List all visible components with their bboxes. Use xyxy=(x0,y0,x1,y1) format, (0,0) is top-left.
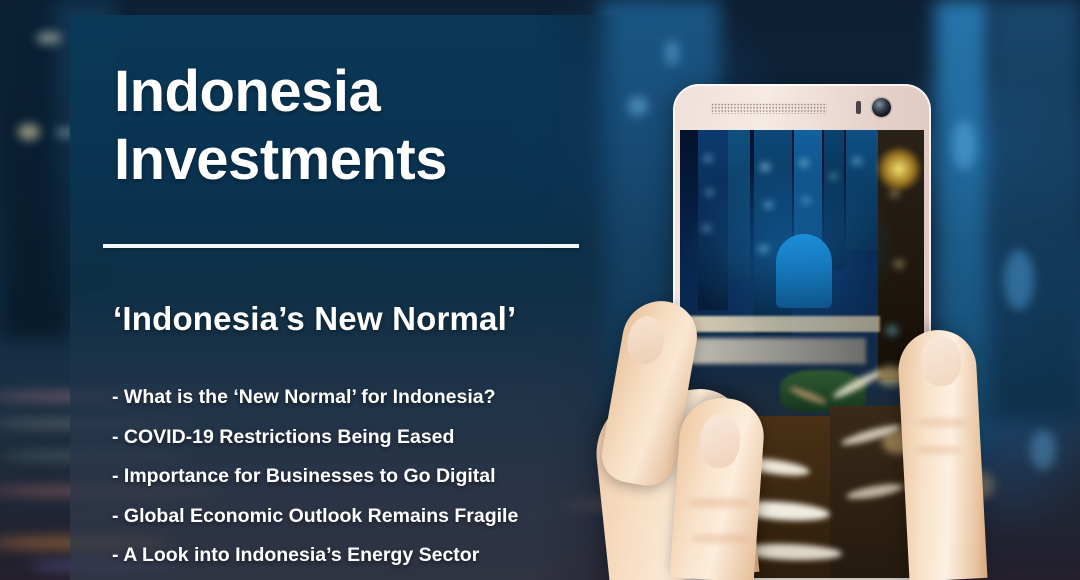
finger-crease xyxy=(918,418,968,427)
background-window-light xyxy=(952,120,976,170)
title-divider xyxy=(103,244,579,248)
list-item: - COVID-19 Restrictions Being Eased xyxy=(112,428,518,448)
proximity-sensor-icon xyxy=(856,101,861,114)
background-window-light xyxy=(18,124,40,140)
subtitle: ‘Indonesia’s New Normal’ xyxy=(113,300,516,338)
list-item: - What is the ‘New Normal’ for Indonesia… xyxy=(112,388,518,408)
speaker-grille-icon xyxy=(711,103,827,114)
list-item: - A Look into Indonesia’s Energy Sector xyxy=(112,546,518,566)
finger-crease xyxy=(916,446,962,454)
page-title: Indonesia Investments xyxy=(114,58,634,195)
finger-crease xyxy=(690,534,750,543)
background-window-light xyxy=(1004,250,1034,310)
screen-blue-haze xyxy=(680,130,924,360)
background-window-light xyxy=(1030,430,1056,470)
list-item: - Global Economic Outlook Remains Fragil… xyxy=(112,507,518,527)
background-window-light xyxy=(664,40,680,66)
promotional-banner: Indonesia Investments ‘Indonesia’s New N… xyxy=(0,0,1080,580)
title-line-1: Indonesia xyxy=(114,58,634,126)
background-tower xyxy=(990,0,1080,420)
list-item: - Importance for Businesses to Go Digita… xyxy=(112,467,518,487)
topic-list: - What is the ‘New Normal’ for Indonesia… xyxy=(112,388,518,580)
phone-top-bezel xyxy=(673,84,931,130)
title-line-2: Investments xyxy=(114,126,634,194)
front-camera-icon xyxy=(872,98,891,117)
finger-crease xyxy=(688,498,752,508)
background-window-light xyxy=(36,32,62,44)
